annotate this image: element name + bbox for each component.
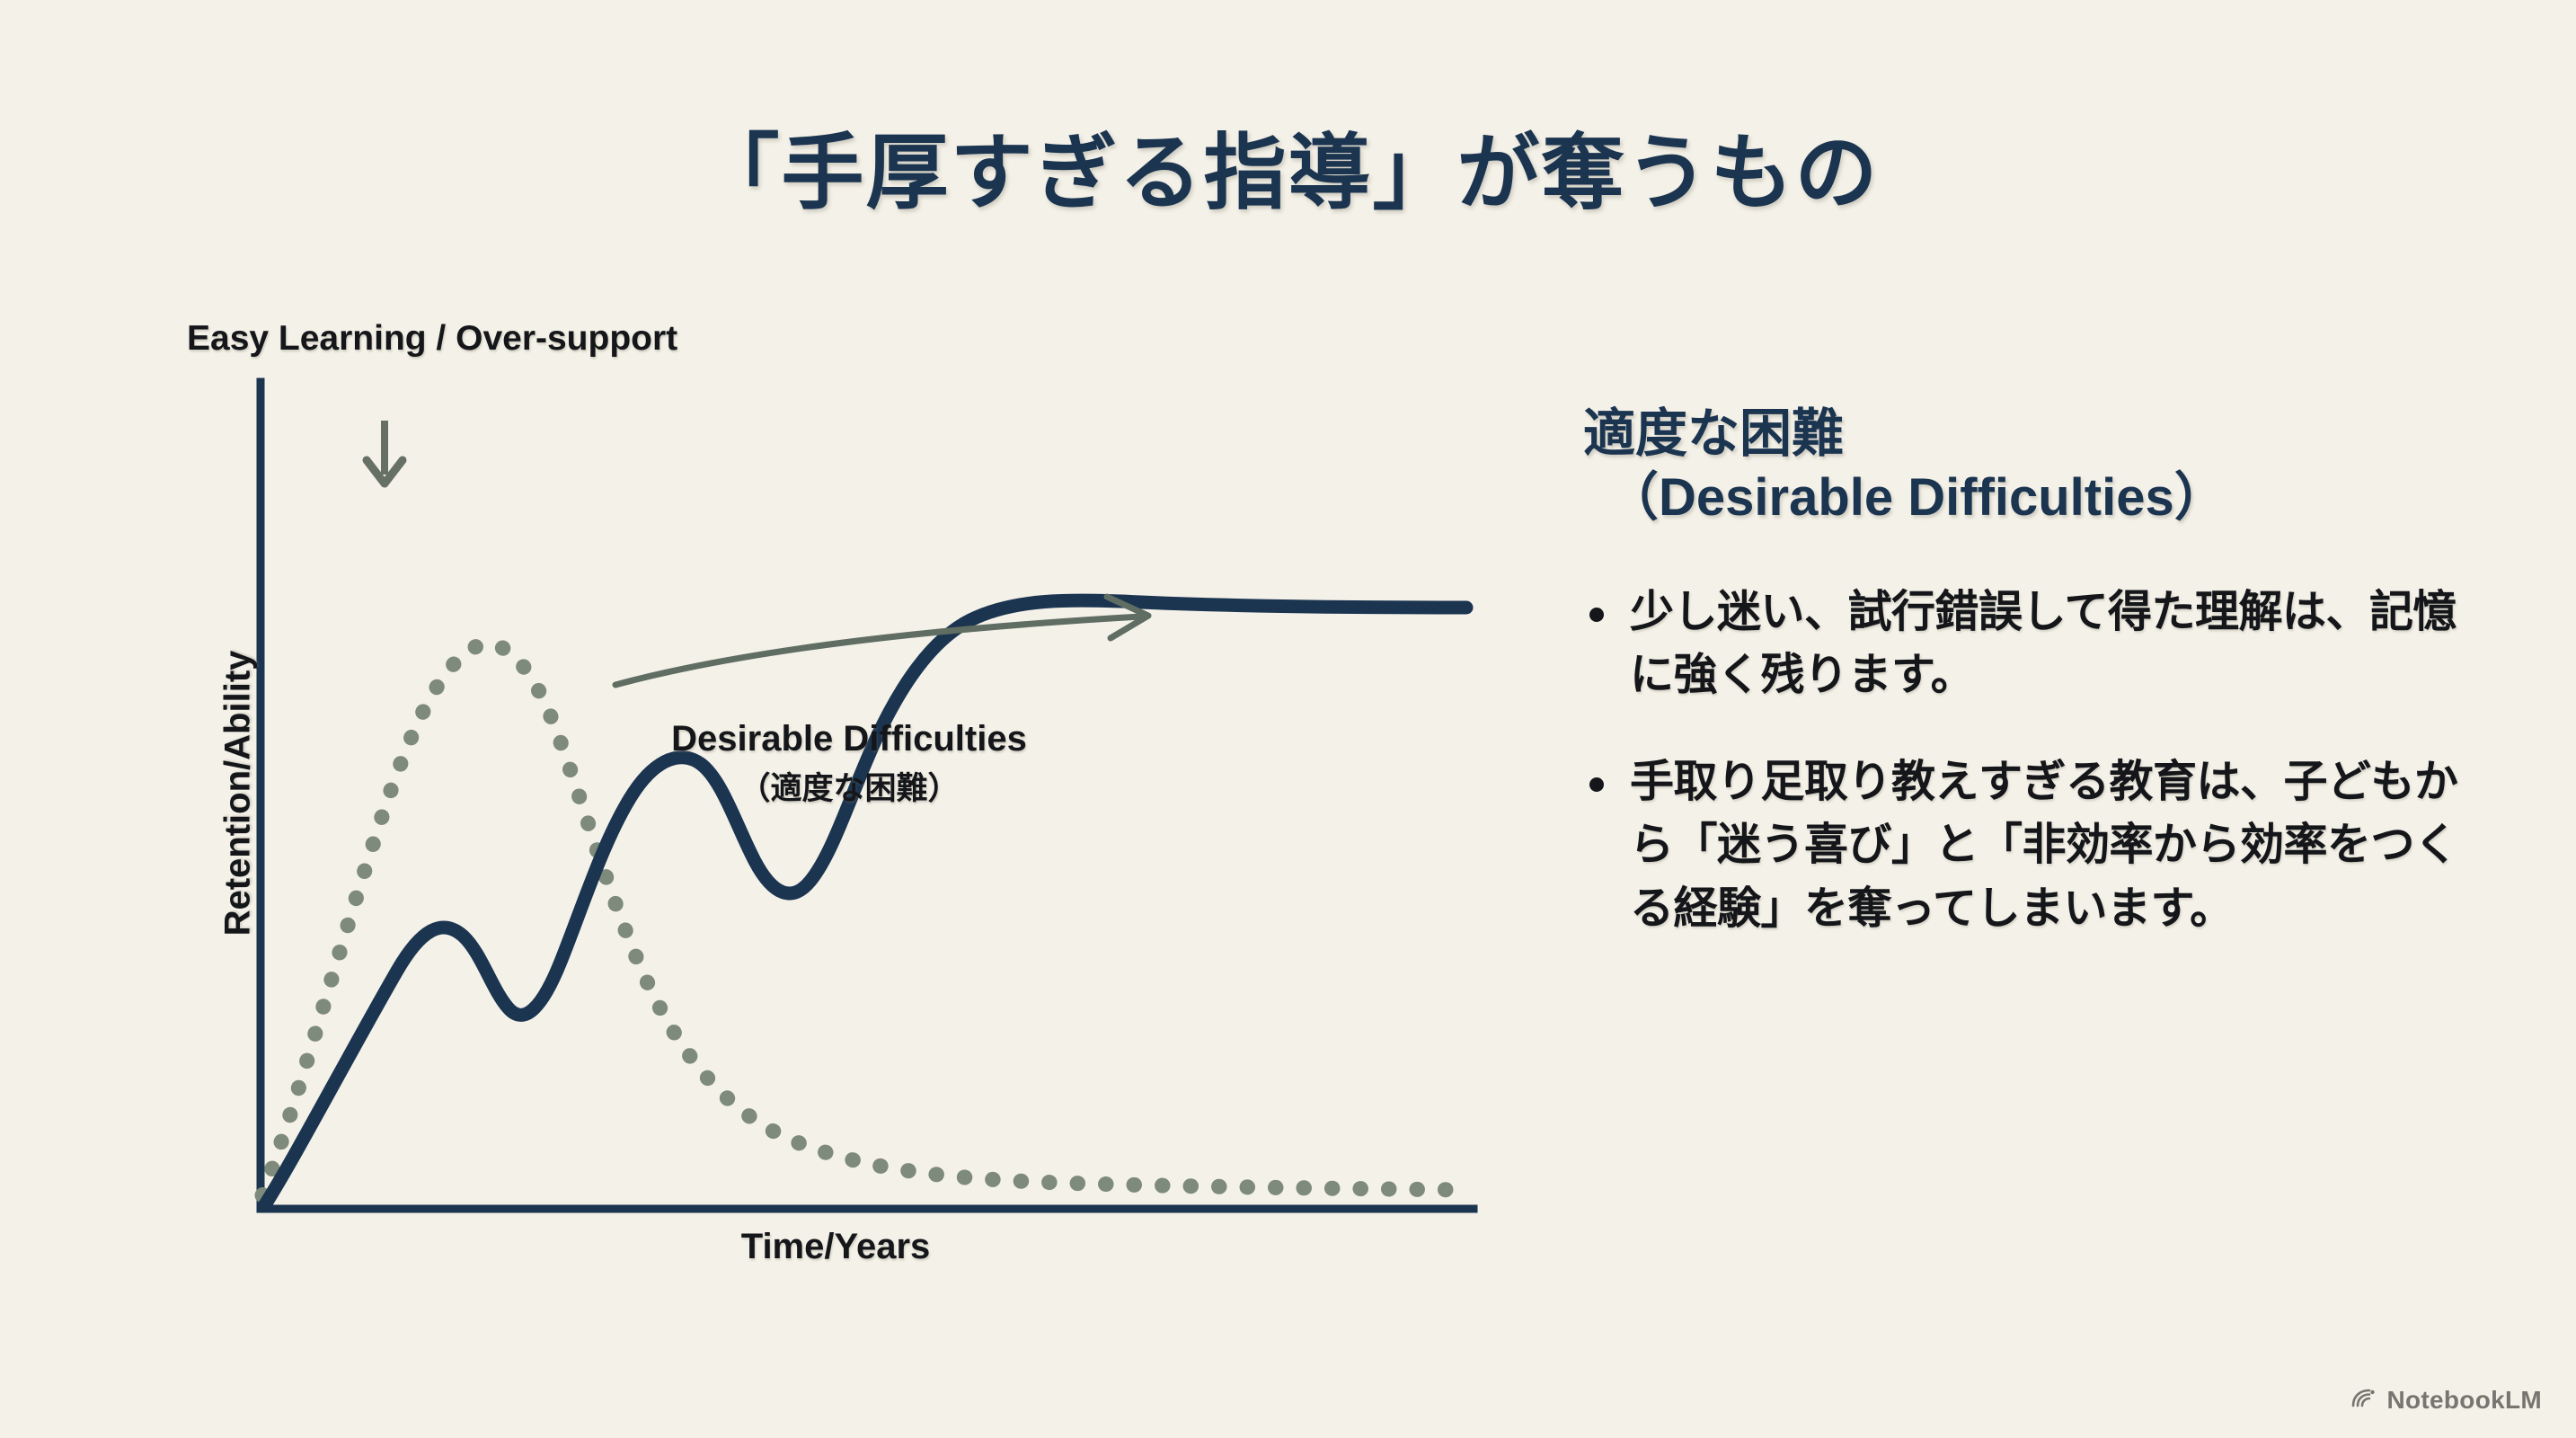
watermark-label: NotebookLM bbox=[2386, 1386, 2542, 1415]
notebooklm-spiral-icon bbox=[2350, 1389, 2377, 1413]
desirable-annotation-line1: Desirable Difficulties bbox=[562, 719, 1137, 759]
explanation-panel: 適度な困難 （Desirable Difficulties） 少し迷い、試行錯誤… bbox=[1583, 403, 2491, 940]
desirable-difficulties-annotation: Desirable Difficulties （適度な困難） bbox=[562, 719, 1137, 809]
y-axis-label: Retention/Ability bbox=[218, 632, 259, 955]
x-axis-label: Time/Years bbox=[252, 1227, 1420, 1267]
list-item: 手取り足取り教えすぎる教育は、子どもから「迷う喜び」と「非効率から効率をつくる経… bbox=[1583, 750, 2491, 941]
right-curved-arrow-icon bbox=[615, 597, 1148, 685]
bullet-list: 少し迷い、試行錯誤して得た理解は、記憶に強く残ります。 手取り足取り教えすぎる教… bbox=[1583, 581, 2491, 941]
chart-svg bbox=[162, 342, 1527, 1303]
series-desirable-difficulties-line bbox=[264, 600, 1466, 1206]
chart-figure: Retention/Ability Time/Years Easy Learni… bbox=[162, 342, 1527, 1303]
panel-heading: 適度な困難 （Desirable Difficulties） bbox=[1583, 403, 2491, 530]
down-arrow-icon bbox=[367, 421, 403, 484]
desirable-annotation-line2: （適度な困難） bbox=[562, 763, 1137, 809]
notebooklm-watermark: NotebookLM bbox=[2350, 1386, 2542, 1415]
easy-learning-annotation-label: Easy Learning / Over-support bbox=[187, 319, 677, 359]
panel-heading-sub: （Desirable Difficulties） bbox=[1583, 466, 2491, 530]
list-item: 少し迷い、試行錯誤して得た理解は、記憶に強く残ります。 bbox=[1583, 581, 2491, 707]
page-title: 「手厚すぎる指導」が奪うもの bbox=[0, 106, 2576, 226]
panel-heading-main: 適度な困難 bbox=[1583, 404, 1844, 463]
